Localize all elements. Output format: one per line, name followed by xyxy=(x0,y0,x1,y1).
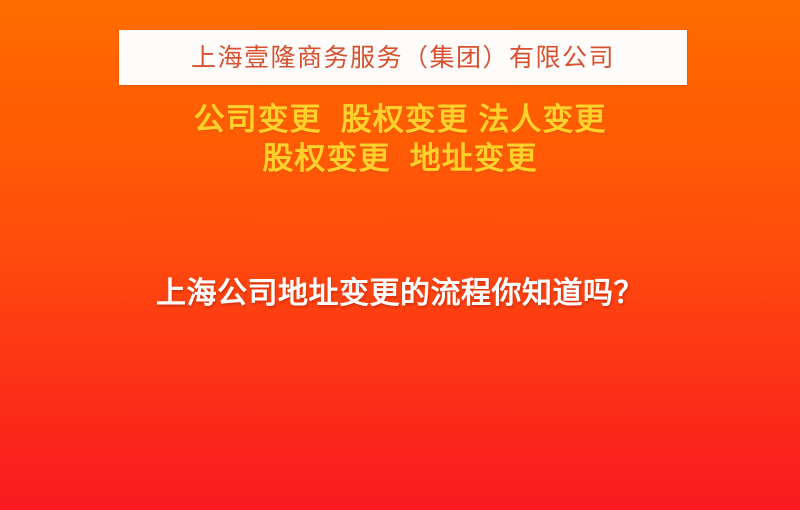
headline-text: 上海公司地址变更的流程你知道吗？ xyxy=(0,274,800,314)
service-keyword-block: 公司变更 股权变更 法人变更 股权变更 地址变更 xyxy=(0,100,800,178)
service-line-2: 股权变更 地址变更 xyxy=(0,139,800,178)
company-name-plaque: 上海壹隆商务服务（集团）有限公司 xyxy=(119,30,687,85)
poster-canvas: 上海壹隆商务服务（集团）有限公司 公司变更 股权变更 法人变更 股权变更 地址变… xyxy=(0,0,800,510)
service-line-1: 公司变更 股权变更 法人变更 xyxy=(0,100,800,139)
headline-block: 上海公司地址变更的流程你知道吗？ xyxy=(0,274,800,314)
company-name-text: 上海壹隆商务服务（集团）有限公司 xyxy=(191,45,615,70)
